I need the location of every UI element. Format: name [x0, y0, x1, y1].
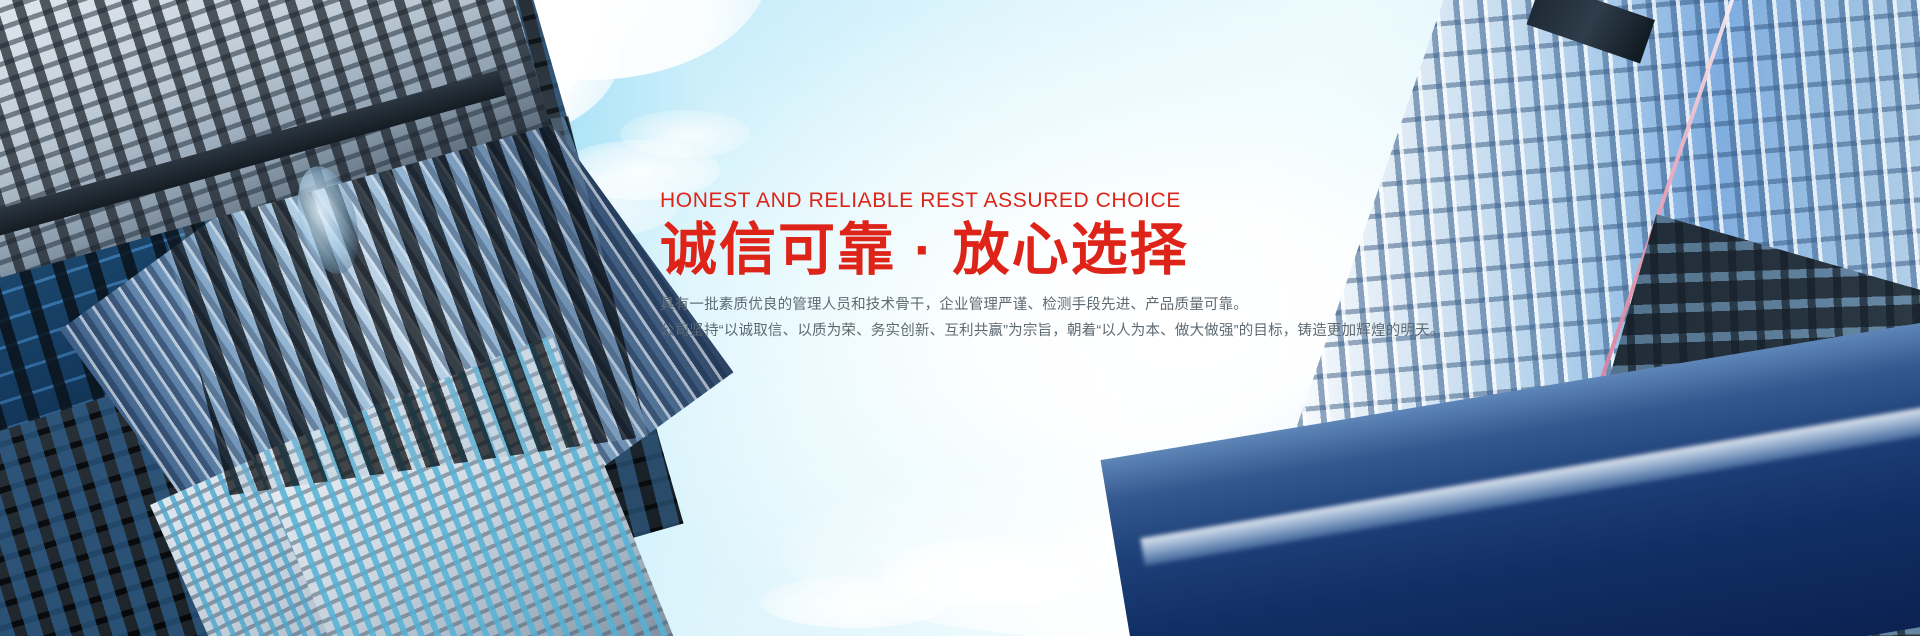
- banner-body-line-1: 具有一批素质优良的管理人员和技术骨干，企业管理严谨、检测手段先进、产品质量可靠。: [660, 293, 1420, 318]
- banner-copy: HONEST AND RELIABLE REST ASSURED CHOICE …: [660, 190, 1420, 344]
- banner-headline: 诚信可靠 · 放心选择: [660, 219, 1420, 283]
- cloud-puff: [620, 110, 750, 158]
- banner-body-line-2: 公司坚持“以诚取信、以质为荣、务实创新、互利共赢”为宗旨，朝着“以人为本、做大做…: [660, 319, 1420, 344]
- banner-eyebrow: HONEST AND RELIABLE REST ASSURED CHOICE: [660, 190, 1420, 211]
- hero-banner: HONEST AND RELIABLE REST ASSURED CHOICE …: [0, 0, 1920, 636]
